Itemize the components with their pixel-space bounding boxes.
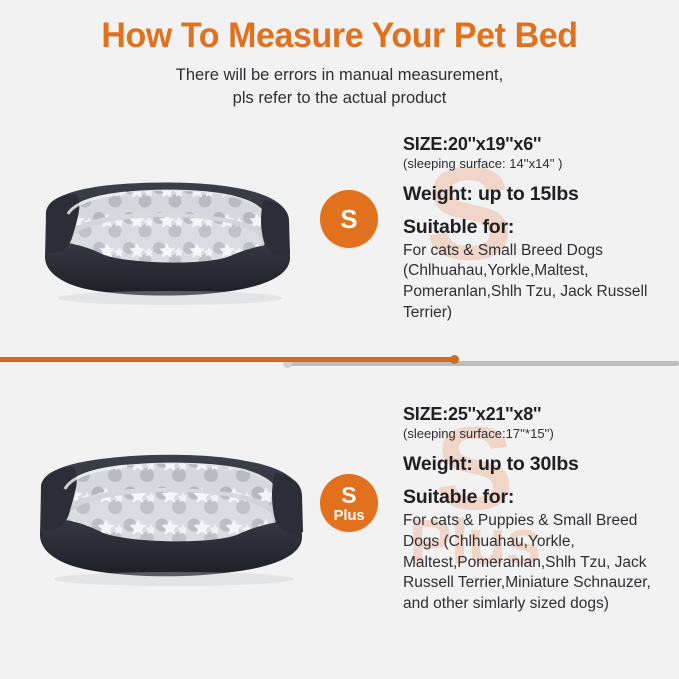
spec-sleeping-surface: (sleeping surface:17''*15'') [403, 426, 671, 442]
size-badge-small-plus: S Plus [320, 474, 378, 532]
pet-bed-photo-small [32, 150, 308, 310]
spec-suitable-heading: Suitable for: [403, 486, 671, 508]
pet-bed-photo-small-plus [26, 420, 322, 592]
spec-weight: Weight: up to 15lbs [403, 183, 671, 205]
spec-size: SIZE:20''x19''x6'' [403, 134, 671, 155]
infographic-page: How To Measure Your Pet Bed There will b… [0, 0, 679, 679]
page-title: How To Measure Your Pet Bed [10, 17, 669, 55]
product-row-small-plus: S Plus S Plus SIZE:25''x21''x8'' (sleepi… [0, 398, 679, 648]
spec-block-small-plus: S Plus SIZE:25''x21''x8'' (sleeping surf… [403, 404, 671, 615]
subtitle-line-2: pls refer to the actual product [0, 87, 679, 110]
section-divider [0, 355, 679, 373]
bed-shadow [58, 291, 282, 305]
spec-size: SIZE:25''x21''x8'' [403, 404, 671, 425]
product-row-small: S S SIZE:20''x19''x6'' (sleeping surface… [0, 128, 679, 343]
subtitle-line-1: There will be errors in manual measureme… [0, 64, 679, 87]
size-badge-label: S [340, 206, 358, 232]
divider-orange-bar [0, 357, 456, 362]
page-subtitle: There will be errors in manual measureme… [0, 64, 679, 111]
pet-bed-illustration [32, 150, 308, 310]
pet-bed-illustration [26, 420, 322, 592]
size-badge-sublabel: Plus [334, 508, 365, 523]
spec-suitable-body: For cats & Small Breed Dogs (Chlhuahau,Y… [403, 241, 671, 323]
size-badge-label: S [341, 484, 357, 507]
divider-orange-dot [450, 355, 459, 364]
spec-suitable-body: For cats & Puppies & Small Breed Dogs (C… [403, 511, 671, 616]
bed-shadow [54, 572, 294, 586]
spec-block-small: S SIZE:20''x19''x6'' (sleeping surface: … [403, 134, 671, 323]
spec-suitable-heading: Suitable for: [403, 216, 671, 238]
spec-weight: Weight: up to 30lbs [403, 453, 671, 475]
header: How To Measure Your Pet Bed There will b… [0, 0, 679, 111]
size-badge-small: S [320, 190, 378, 248]
spec-sleeping-surface: (sleeping surface: 14''x14'' ) [403, 156, 671, 172]
